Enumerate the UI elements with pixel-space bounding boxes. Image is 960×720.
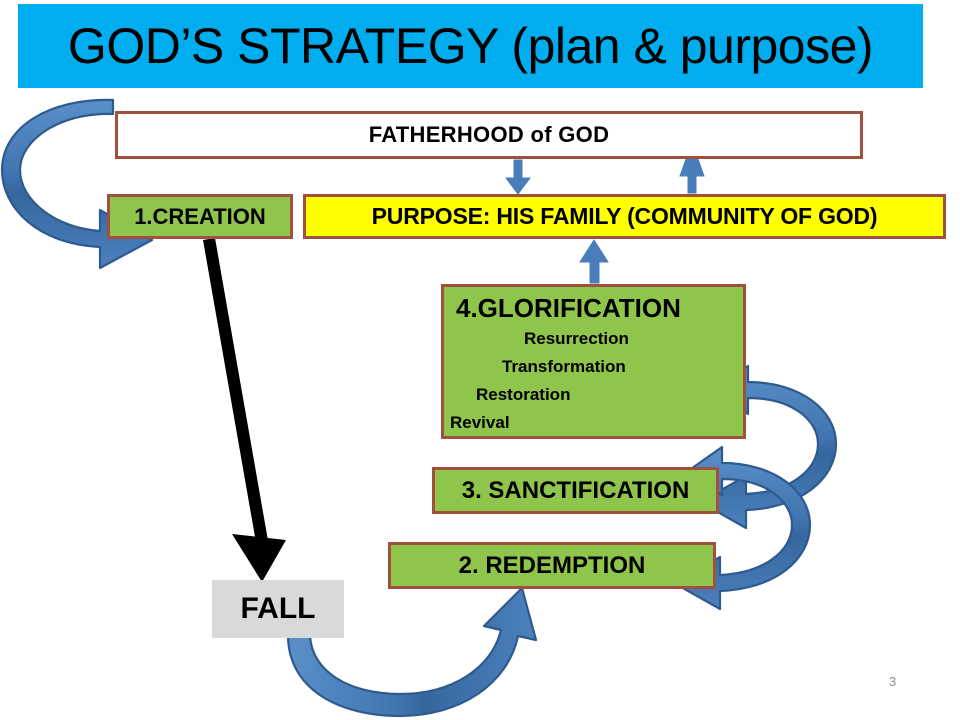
glorification-sub-item-transformation: Transformation: [502, 357, 626, 377]
arrow-glorification-to-purpose: [580, 240, 608, 283]
box-creation[interactable]: 1.CREATION: [107, 194, 293, 239]
box-fall-label: FALL: [241, 592, 316, 626]
box-redemption-label: 2. REDEMPTION: [459, 552, 646, 580]
page-title: GOD’S STRATEGY (plan & purpose): [18, 4, 923, 88]
glorification-sub-item-resurrection: Resurrection: [524, 329, 629, 349]
box-redemption[interactable]: 2. REDEMPTION: [388, 542, 716, 589]
slide-canvas: GOD’S STRATEGY (plan & purpose): [0, 0, 960, 720]
arrow-fatherhood-to-purpose: [506, 160, 530, 194]
box-glorification[interactable]: 4.GLORIFICATION Resurrection Transformat…: [441, 284, 746, 439]
glorification-sub-item-revival: Revival: [450, 413, 510, 433]
box-purpose-label: PURPOSE: HIS FAMILY (COMMUNITY OF GOD): [372, 203, 878, 230]
page-number: 3: [889, 674, 896, 689]
box-fatherhood-of-god[interactable]: FATHERHOOD of GOD: [115, 111, 863, 159]
box-sanctification-label: 3. SANCTIFICATION: [462, 477, 690, 505]
box-purpose[interactable]: PURPOSE: HIS FAMILY (COMMUNITY OF GOD): [303, 194, 946, 239]
box-glorification-label: 4.GLORIFICATION: [456, 293, 681, 324]
glorification-sub-item-restoration: Restoration: [476, 385, 570, 405]
box-creation-label: 1.CREATION: [134, 204, 266, 230]
box-fatherhood-label: FATHERHOOD of GOD: [369, 122, 610, 148]
box-sanctification[interactable]: 3. SANCTIFICATION: [432, 467, 719, 514]
box-fall[interactable]: FALL: [212, 580, 344, 638]
arrow-creation-to-fall: [203, 238, 286, 582]
